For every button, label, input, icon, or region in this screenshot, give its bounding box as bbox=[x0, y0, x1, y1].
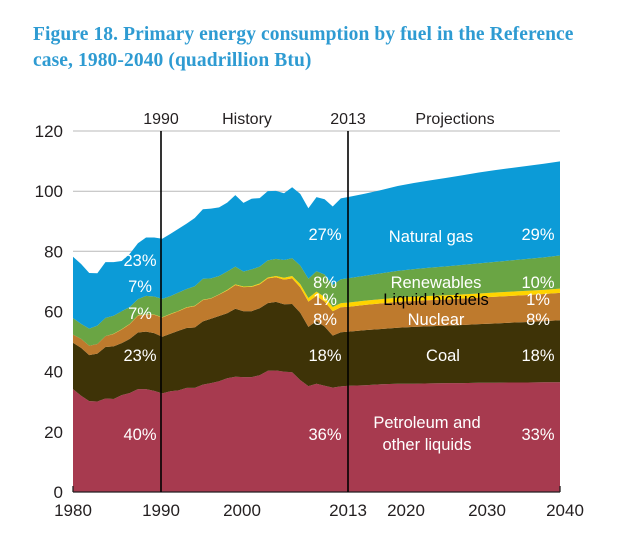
x-tick-1990: 1990 bbox=[142, 501, 180, 520]
y-tick-120: 120 bbox=[35, 122, 63, 141]
y-tick-60: 60 bbox=[44, 303, 63, 322]
series-label-liquid-biofuels: Liquid biofuels bbox=[383, 291, 489, 309]
pct-natural-gas-2013: 27% bbox=[308, 226, 341, 244]
pct-natural-gas-1990: 23% bbox=[123, 252, 156, 270]
pct-coal-2013: 18% bbox=[308, 347, 341, 365]
pct-renewables-2013: 8% bbox=[313, 274, 337, 292]
y-tick-40: 40 bbox=[44, 363, 63, 382]
series-label-renewables: Renewables bbox=[391, 274, 482, 292]
pct-liquid-biofuels-2040: 1% bbox=[526, 291, 550, 309]
x-tick-2030: 2030 bbox=[468, 501, 506, 520]
pct-coal-2040: 18% bbox=[521, 347, 554, 365]
pct-liquid-biofuels-2013: 1% bbox=[313, 291, 337, 309]
y-tick-80: 80 bbox=[44, 242, 63, 261]
x-tick-2013: 2013 bbox=[329, 501, 367, 520]
top-label-history: History bbox=[222, 111, 272, 128]
pct-nuclear-2013: 8% bbox=[313, 311, 337, 329]
series-label-nuclear: Nuclear bbox=[408, 311, 465, 329]
series-label-natural-gas: Natural gas bbox=[389, 228, 473, 246]
pct-renewables-2040: 10% bbox=[521, 274, 554, 292]
pct-natural-gas-2040: 29% bbox=[521, 226, 554, 244]
top-label-2013: 2013 bbox=[330, 111, 366, 128]
x-tick-2020: 2020 bbox=[387, 501, 425, 520]
y-tick-100: 100 bbox=[35, 182, 63, 201]
pct-nuclear-1990: 7% bbox=[128, 305, 152, 323]
pct-renewables-1990: 7% bbox=[128, 278, 152, 296]
x-tick-2000: 2000 bbox=[223, 501, 261, 520]
pct-coal-1990: 23% bbox=[123, 347, 156, 365]
series-label-coal: Coal bbox=[426, 347, 460, 365]
energy-consumption-area-chart: 1990 History 2013 Projections 120 100 80… bbox=[0, 0, 623, 553]
x-tick-2040: 2040 bbox=[546, 501, 584, 520]
x-tick-1980: 1980 bbox=[54, 501, 92, 520]
series-label-petroleum-line1: Petroleum and bbox=[373, 414, 480, 432]
pct-petroleum-2013: 36% bbox=[308, 426, 341, 444]
series-label-petroleum-line2: other liquids bbox=[383, 436, 472, 454]
top-label-1990: 1990 bbox=[143, 111, 179, 128]
pct-nuclear-2040: 8% bbox=[526, 311, 550, 329]
y-tick-0: 0 bbox=[54, 483, 63, 502]
y-tick-20: 20 bbox=[44, 423, 63, 442]
pct-petroleum-1990: 40% bbox=[123, 426, 156, 444]
chart-container: 1990 History 2013 Projections 120 100 80… bbox=[0, 0, 623, 553]
top-label-projections: Projections bbox=[415, 111, 494, 128]
pct-petroleum-2040: 33% bbox=[521, 426, 554, 444]
